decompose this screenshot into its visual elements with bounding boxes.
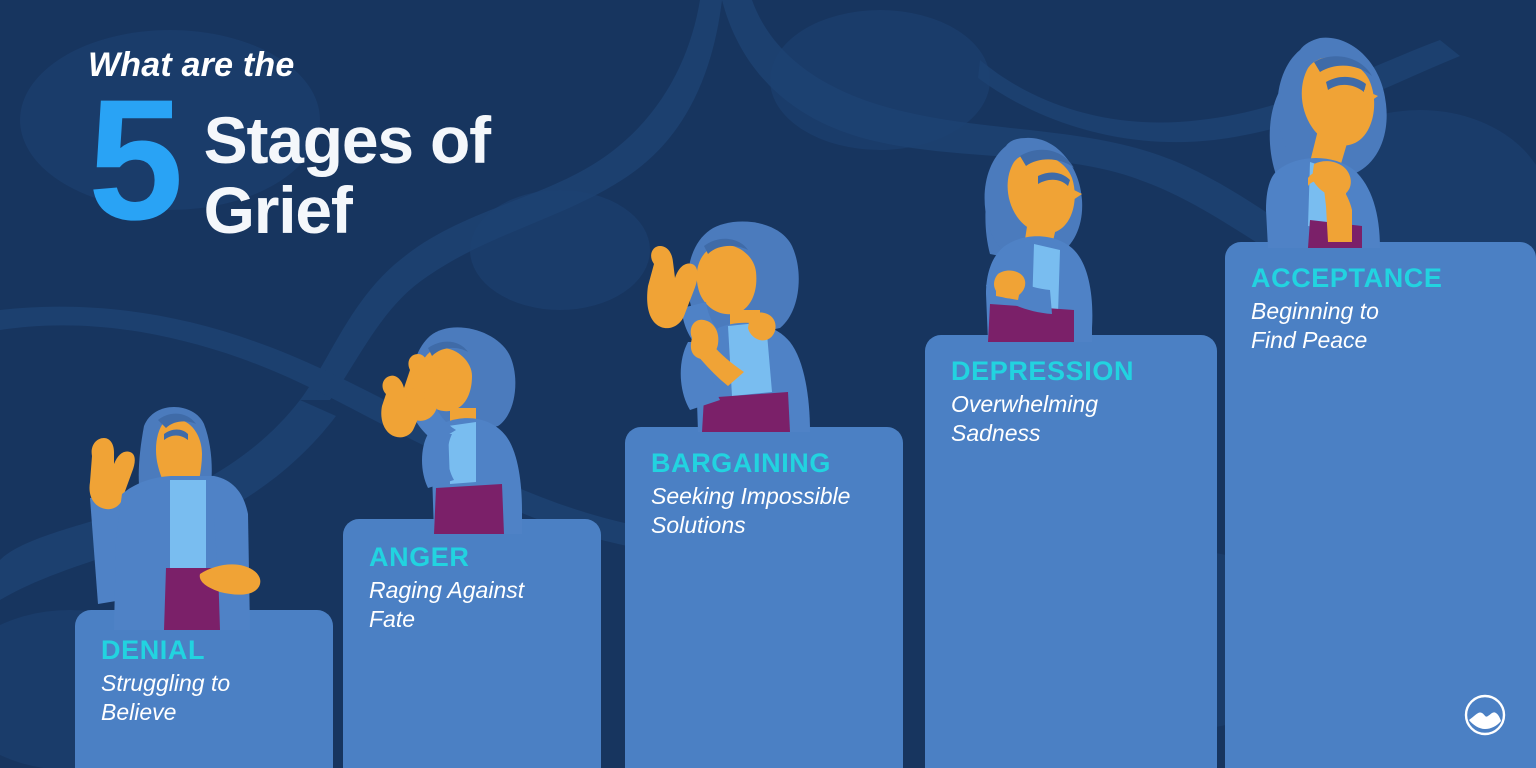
stage-name-denial: DENIAL [101, 636, 319, 664]
figure-bargaining [632, 216, 828, 432]
stage-name-acceptance: ACCEPTANCE [1251, 264, 1522, 292]
stage-bar-bargaining[interactable]: BARGAINING Seeking Impossible Solutions [625, 427, 903, 768]
stage-desc-bargaining: Seeking Impossible Solutions [651, 482, 889, 540]
stage-desc-line-1: Raging Against [369, 576, 587, 605]
stage-name-anger: ANGER [369, 543, 587, 571]
stage-count-number: 5 [88, 90, 178, 231]
stage-bar-depression[interactable]: DEPRESSION Overwhelming Sadness [925, 335, 1217, 768]
page-title: What are the 5 Stages of Grief [88, 48, 490, 246]
stage-desc-line-1: Overwhelming [951, 390, 1203, 419]
stage-desc-acceptance: Beginning to Find Peace [1251, 297, 1522, 355]
title-line-2: Grief [204, 176, 490, 246]
stage-bar-anger[interactable]: ANGER Raging Against Fate [343, 519, 601, 768]
stage-name-bargaining: BARGAINING [651, 449, 889, 477]
stage-desc-line-1: Seeking Impossible [651, 482, 889, 511]
stage-desc-anger: Raging Against Fate [369, 576, 587, 634]
stage-bar-denial[interactable]: DENIAL Struggling to Believe [75, 610, 333, 768]
infographic-canvas: What are the 5 Stages of Grief [0, 0, 1536, 768]
stage-desc-line-2: Fate [369, 605, 587, 634]
stage-desc-denial: Struggling to Believe [101, 669, 319, 727]
figure-acceptance [1252, 28, 1428, 248]
title-line-1: Stages of [204, 106, 490, 176]
stage-desc-depression: Overwhelming Sadness [951, 390, 1203, 448]
stage-bar-acceptance[interactable]: ACCEPTANCE Beginning to Find Peace [1225, 242, 1536, 768]
figure-depression [962, 128, 1132, 342]
circle-wave-logo[interactable] [1462, 692, 1508, 738]
stage-name-depression: DEPRESSION [951, 357, 1203, 385]
stage-desc-line-1: Struggling to [101, 669, 319, 698]
stage-desc-line-1: Beginning to [1251, 297, 1522, 326]
stage-desc-line-2: Solutions [651, 511, 889, 540]
title-words: Stages of Grief [204, 96, 490, 246]
figure-anger [372, 322, 546, 534]
stage-desc-line-2: Sadness [951, 419, 1203, 448]
stage-desc-line-2: Believe [101, 698, 319, 727]
stage-desc-line-2: Find Peace [1251, 326, 1522, 355]
figure-denial [78, 398, 278, 630]
